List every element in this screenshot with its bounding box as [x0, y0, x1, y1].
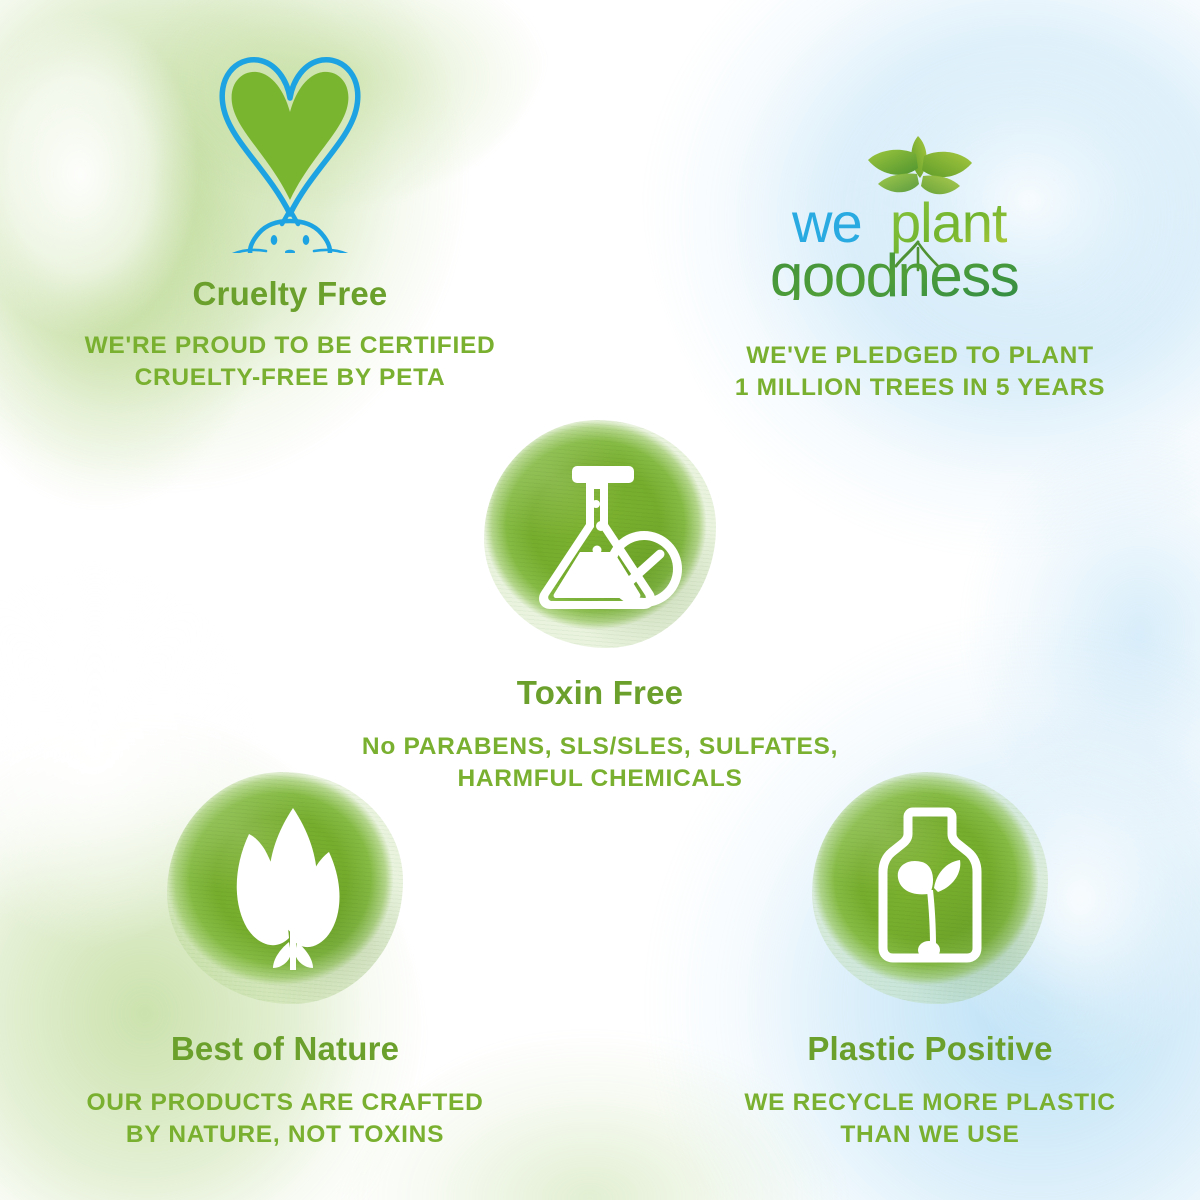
- peta-cruelty-free-bunny-icon: [200, 38, 380, 253]
- we-plant-goodness-logo: we plant goodness: [750, 120, 1090, 300]
- flask-no-toxins-icon: [484, 420, 716, 648]
- card-title-cruelty-free: Cruelty Free: [0, 277, 580, 312]
- svg-text:goodness: goodness: [770, 242, 1018, 300]
- card-description-line: CRUELTY-FREE BY PETA: [0, 362, 580, 394]
- card-description-line: WE RECYCLE MORE PLASTIC: [650, 1087, 1200, 1119]
- card-cruelty-free: Cruelty Free WE'RE PROUD TO BE CERTIFIED…: [0, 38, 580, 394]
- card-description-best-of-nature: OUR PRODUCTS ARE CRAFTED BY NATURE, NOT …: [0, 1087, 570, 1152]
- card-title-plastic-positive: Plastic Positive: [650, 1032, 1200, 1067]
- card-description-line: No PARABENS, SLS/SLES, SULFATES,: [330, 731, 870, 763]
- infographic-canvas: Cruelty Free WE'RE PROUD TO BE CERTIFIED…: [0, 0, 1200, 1200]
- bottle-with-sprout-icon: [812, 772, 1048, 1004]
- card-description-line: OUR PRODUCTS ARE CRAFTED: [0, 1087, 570, 1119]
- card-description-cruelty-free: WE'RE PROUD TO BE CERTIFIED CRUELTY-FREE…: [0, 330, 580, 395]
- card-description-line: BY NATURE, NOT TOXINS: [0, 1119, 570, 1151]
- card-title-toxin-free: Toxin Free: [330, 676, 870, 711]
- card-title-best-of-nature: Best of Nature: [0, 1032, 570, 1067]
- card-description-line: THAN WE USE: [650, 1119, 1200, 1151]
- card-toxin-free: Toxin Free No PARABENS, SLS/SLES, SULFAT…: [330, 420, 870, 795]
- card-best-of-nature: Best of Nature OUR PRODUCTS ARE CRAFTED …: [0, 772, 570, 1151]
- card-description-plastic-positive: WE RECYCLE MORE PLASTIC THAN WE USE: [650, 1087, 1200, 1152]
- card-description-we-plant-goodness: WE'VE PLEDGED TO PLANT 1 MILLION TREES I…: [640, 340, 1200, 405]
- card-plastic-positive: Plastic Positive WE RECYCLE MORE PLASTIC…: [650, 772, 1200, 1151]
- card-we-plant-goodness: we plant goodness WE'VE PLEDGED TO PLANT…: [640, 120, 1200, 405]
- card-description-line: WE'RE PROUD TO BE CERTIFIED: [0, 330, 580, 362]
- three-leaves-icon: [167, 772, 403, 1004]
- card-description-line: WE'VE PLEDGED TO PLANT: [640, 340, 1200, 372]
- card-description-line: 1 MILLION TREES IN 5 YEARS: [640, 372, 1200, 404]
